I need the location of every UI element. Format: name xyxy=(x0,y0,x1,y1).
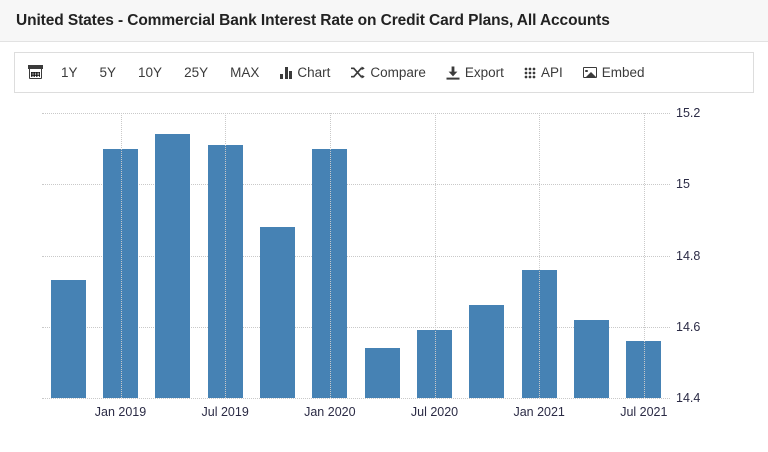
chart-bar[interactable] xyxy=(260,227,295,398)
grid-icon xyxy=(524,67,536,79)
range-label-5y: 5Y xyxy=(100,65,117,80)
image-icon xyxy=(583,67,597,78)
y-axis-tick-label: 14.4 xyxy=(676,391,700,405)
x-gridline xyxy=(435,113,436,398)
x-gridline xyxy=(539,113,540,398)
chart-plot-area: 15.21514.814.614.4Jan 2019Jul 2019Jan 20… xyxy=(42,113,670,398)
y-axis-tick-label: 15 xyxy=(676,177,690,191)
x-gridline xyxy=(121,113,122,398)
y-axis-tick-label: 14.6 xyxy=(676,320,700,334)
x-axis-tick-label: Jul 2019 xyxy=(202,405,249,419)
page-header: United States - Commercial Bank Interest… xyxy=(0,0,768,42)
page-title: United States - Commercial Bank Interest… xyxy=(16,12,610,30)
chart-label: Chart xyxy=(297,65,330,80)
calendar-icon xyxy=(29,66,42,79)
download-icon xyxy=(446,66,460,80)
chart-bar[interactable] xyxy=(574,320,609,398)
api-label: API xyxy=(541,65,563,80)
x-axis-tick-label: Jan 2019 xyxy=(95,405,146,419)
range-button-max[interactable]: MAX xyxy=(219,53,270,92)
embed-label: Embed xyxy=(602,65,645,80)
api-button[interactable]: API xyxy=(514,53,573,92)
bar-chart-icon xyxy=(280,67,292,79)
range-button-25y[interactable]: 25Y xyxy=(173,53,219,92)
range-label-25y: 25Y xyxy=(184,65,208,80)
chart-bar[interactable] xyxy=(155,134,190,398)
x-gridline xyxy=(225,113,226,398)
y-axis-tick-label: 15.2 xyxy=(676,106,700,120)
calendar-button[interactable] xyxy=(29,53,50,92)
embed-button[interactable]: Embed xyxy=(573,53,655,92)
x-gridline xyxy=(330,113,331,398)
range-label-max: MAX xyxy=(230,65,259,80)
y-axis-tick-label: 14.8 xyxy=(676,249,700,263)
chart-bar[interactable] xyxy=(51,280,86,398)
chart-toolbar: 1Y 5Y 10Y 25Y MAX Chart xyxy=(14,52,754,93)
x-axis-tick-label: Jan 2021 xyxy=(513,405,564,419)
chart-bar[interactable] xyxy=(469,305,504,398)
chart-page: United States - Commercial Bank Interest… xyxy=(0,0,768,452)
range-label-1y: 1Y xyxy=(61,65,78,80)
chart-panel: 15.21514.814.614.4Jan 2019Jul 2019Jan 20… xyxy=(14,93,754,443)
chart-button[interactable]: Chart xyxy=(270,53,340,92)
x-gridline xyxy=(644,113,645,398)
x-axis-tick-label: Jul 2020 xyxy=(411,405,458,419)
x-axis-tick-label: Jul 2021 xyxy=(620,405,667,419)
compare-button[interactable]: Compare xyxy=(340,53,436,92)
export-button[interactable]: Export xyxy=(436,53,514,92)
range-button-10y[interactable]: 10Y xyxy=(127,53,173,92)
export-label: Export xyxy=(465,65,504,80)
shuffle-icon xyxy=(350,66,365,79)
y-gridline xyxy=(42,398,670,399)
range-button-5y[interactable]: 5Y xyxy=(89,53,128,92)
chart-bar[interactable] xyxy=(365,348,400,398)
compare-label: Compare xyxy=(370,65,426,80)
y-gridline xyxy=(42,113,670,114)
range-button-1y[interactable]: 1Y xyxy=(50,53,89,92)
range-label-10y: 10Y xyxy=(138,65,162,80)
x-axis-tick-label: Jan 2020 xyxy=(304,405,355,419)
